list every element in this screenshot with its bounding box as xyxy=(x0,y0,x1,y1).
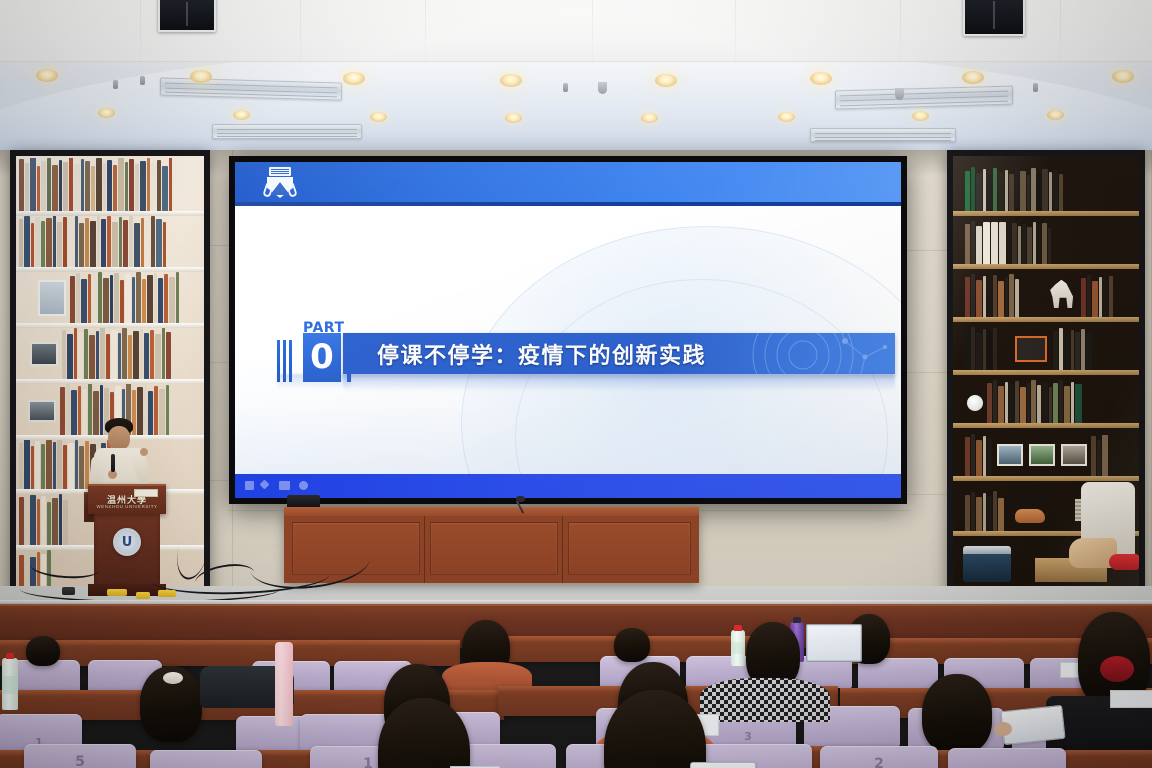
audience-area: 1 2 3 4 xyxy=(0,604,1152,768)
wenzhou-university-crest-icon xyxy=(265,167,295,200)
bookshelf-row xyxy=(953,164,1139,216)
bookshelf-row xyxy=(953,375,1139,428)
ceiling-speaker xyxy=(895,88,904,100)
slide-body: PART 0 xyxy=(235,210,901,474)
audience-head xyxy=(922,674,992,754)
ceiling xyxy=(0,0,1152,152)
bookshelf-row xyxy=(16,158,204,216)
book-group xyxy=(19,217,201,267)
recessed-downlight xyxy=(343,72,365,85)
bookshelf-row xyxy=(953,216,1139,269)
framed-photo xyxy=(28,400,56,422)
recessed-downlight xyxy=(778,112,795,122)
pig-figurine xyxy=(1015,509,1045,523)
framed-photo xyxy=(1029,444,1055,466)
cable-protector xyxy=(158,590,176,597)
framed-photo xyxy=(997,444,1023,466)
bookshelf-row xyxy=(16,272,204,328)
slide-title: 停课不停学：疫情下的创新实践 xyxy=(377,333,833,374)
presenter-hand xyxy=(140,448,148,456)
book-group xyxy=(19,159,201,211)
flower-ornament xyxy=(967,395,983,411)
recessed-downlight xyxy=(505,113,522,123)
recessed-downlight xyxy=(190,70,212,83)
recessed-downlight xyxy=(370,112,387,122)
hair-tie xyxy=(163,672,183,684)
seat-number: 5 xyxy=(24,754,136,768)
red-object xyxy=(1109,554,1139,570)
ceiling-seam xyxy=(300,0,301,62)
framed-photo xyxy=(1061,444,1087,466)
ceiling-seam xyxy=(1060,0,1061,62)
recessed-downlight xyxy=(500,74,522,87)
sprinkler-head xyxy=(563,83,568,92)
ceiling-seam xyxy=(425,0,426,62)
presenter-head xyxy=(108,426,130,450)
pink-thermos[interactable] xyxy=(275,642,293,726)
recessed-downlight xyxy=(641,113,658,123)
stage-confidence-monitor xyxy=(287,495,320,507)
slide-icon-4[interactable] xyxy=(299,481,308,490)
typewriter xyxy=(963,550,1011,582)
book-group xyxy=(1091,429,1125,476)
display-screen-right xyxy=(953,156,1139,594)
bookshelf-row xyxy=(953,322,1139,375)
recessed-downlight xyxy=(1047,110,1064,120)
linear-air-diffuser xyxy=(212,124,362,139)
handheld-microphone xyxy=(111,454,115,472)
lecture-hall-scene: 温州大學 WENZHOU UNIVERSITY xyxy=(0,0,1152,768)
seat[interactable] xyxy=(150,750,262,768)
laptop[interactable] xyxy=(806,624,862,662)
ceiling-seam xyxy=(900,0,901,62)
title-reflection xyxy=(343,374,895,391)
slide-header-bar xyxy=(235,162,901,206)
sprinkler-head xyxy=(1033,83,1038,92)
recessed-downlight xyxy=(36,69,58,82)
slide-icon-1[interactable] xyxy=(245,481,254,490)
sprinkler-head xyxy=(140,76,145,85)
framed-photo xyxy=(1015,336,1047,362)
recessed-downlight xyxy=(98,108,115,118)
bookshelf-wall-display-right[interactable] xyxy=(947,150,1145,600)
book-group xyxy=(987,376,1125,423)
book-group xyxy=(70,273,201,323)
tablet[interactable] xyxy=(690,762,756,768)
cable-protector xyxy=(136,592,150,599)
seat[interactable] xyxy=(948,748,1066,768)
framed-photo xyxy=(30,342,58,366)
audience-shoulders xyxy=(700,678,830,722)
book-group xyxy=(965,217,1125,264)
slide-title-band: 停课不停学：疫情下的创新实践 xyxy=(343,333,895,374)
ceiling-seam xyxy=(735,0,736,62)
recessed-downlight xyxy=(912,111,929,121)
book-group xyxy=(62,329,201,379)
recessed-downlight xyxy=(233,110,250,120)
podium-top: 温州大學 WENZHOU UNIVERSITY xyxy=(88,484,166,514)
audience-head xyxy=(614,628,650,662)
slide-footer-bar xyxy=(235,474,901,498)
paper-sheet xyxy=(1110,690,1152,708)
bookshelf-row xyxy=(953,269,1139,322)
water-bottle[interactable] xyxy=(2,658,18,710)
ceiling-seam xyxy=(592,0,593,62)
recessed-downlight xyxy=(1112,70,1134,83)
audience-hand xyxy=(994,722,1012,736)
bookshelf-row xyxy=(953,428,1139,481)
emblem-letter: U xyxy=(115,535,139,551)
microphone-head xyxy=(516,496,525,502)
cable-protector xyxy=(107,589,127,596)
water-bottle[interactable] xyxy=(731,630,745,666)
podium-nameplate xyxy=(134,489,158,497)
part-reflection xyxy=(277,374,351,389)
seat-number: 2 xyxy=(820,756,938,768)
seat[interactable]: 5 xyxy=(24,744,136,768)
university-emblem-icon: U xyxy=(113,528,141,556)
podium-name-en: WENZHOU UNIVERSITY xyxy=(88,504,166,509)
ceiling-vent xyxy=(963,0,1025,36)
floor-junction-box xyxy=(62,587,75,595)
main-led-screen[interactable]: PART 0 xyxy=(229,156,907,504)
book-group xyxy=(965,165,1125,211)
ceiling-seam xyxy=(140,0,141,62)
audience-head xyxy=(26,636,60,666)
book-group xyxy=(965,482,1063,531)
bookshelf-row xyxy=(16,328,204,384)
ceiling-vent xyxy=(158,0,216,32)
seat[interactable]: 2 xyxy=(820,746,938,768)
framed-picture xyxy=(38,280,66,316)
linear-air-diffuser xyxy=(810,128,956,142)
hair-tie xyxy=(1100,656,1134,682)
book-group xyxy=(1081,270,1125,317)
sprinkler-head xyxy=(113,80,118,89)
book-group xyxy=(1053,323,1125,370)
ceiling-speaker xyxy=(598,82,607,94)
slide-icon-3[interactable] xyxy=(279,481,290,490)
recessed-downlight xyxy=(962,71,984,84)
typewriter-top xyxy=(963,546,1011,554)
bookshelf-row xyxy=(16,216,204,272)
recessed-downlight xyxy=(810,72,832,85)
slide-icon-2[interactable] xyxy=(260,480,270,490)
presentation-slide[interactable]: PART 0 xyxy=(235,162,901,498)
recessed-downlight xyxy=(655,74,677,87)
